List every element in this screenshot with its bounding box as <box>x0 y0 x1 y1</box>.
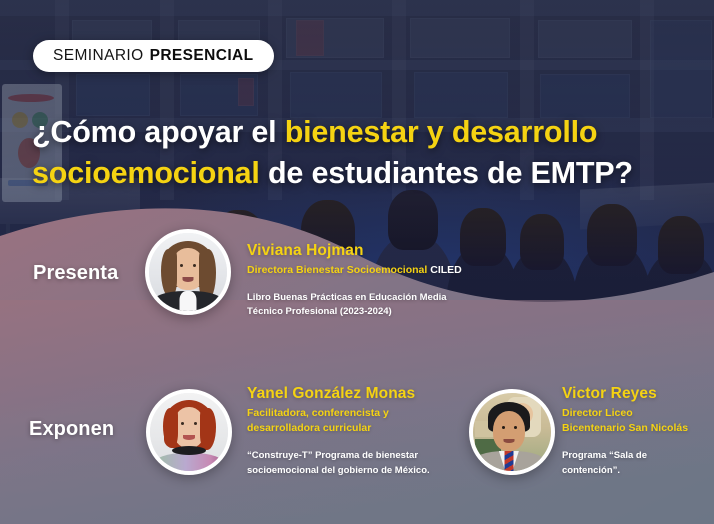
badge-word-bold: PRESENCIAL <box>150 47 254 65</box>
speaker-name: Yanel González Monas <box>247 385 447 403</box>
speaker-note: Libro Buenas Prácticas en Educación Medi… <box>247 291 462 320</box>
speaker-note: Programa “Sala de contención”. <box>562 449 662 478</box>
speaker-name: Victor Reyes <box>562 385 712 403</box>
speaker-role: Directora Bienestar Socioemocional CILED <box>247 263 497 278</box>
speaker-info-yanel: Yanel González Monas Facilitadora, confe… <box>247 385 447 478</box>
speaker-role-white: CILED <box>430 264 462 276</box>
role-label-presenta: Presenta <box>33 262 118 285</box>
portrait-yanel-gonzalez-monas <box>150 393 228 471</box>
avatar <box>469 389 555 475</box>
portrait-victor-reyes <box>473 393 551 471</box>
seminar-type-badge: SEMINARIO PRESENCIAL <box>33 40 274 72</box>
speaker-role: Director Liceo Bicentenario San Nicolás <box>562 406 692 436</box>
avatar <box>145 229 231 315</box>
title-part-1: ¿Cómo apoyar el <box>32 115 285 149</box>
speaker-note: “Construye-T” Programa de bienestar soci… <box>247 449 439 478</box>
speaker-info-victor: Victor Reyes Director Liceo Bicentenario… <box>562 385 712 478</box>
badge-word-light: SEMINARIO <box>53 47 144 65</box>
portrait-viviana-hojman <box>149 233 227 311</box>
role-label-exponen: Exponen <box>29 418 114 441</box>
speaker-name: Viviana Hojman <box>247 242 497 260</box>
page-title: ¿Cómo apoyar el bienestar y desarrollo s… <box>32 112 672 193</box>
title-highlight-2: socioemocional <box>32 156 260 190</box>
title-highlight-1: bienestar y desarrollo <box>285 115 598 149</box>
avatar <box>146 389 232 475</box>
speaker-info-viviana: Viviana Hojman Directora Bienestar Socio… <box>247 242 497 320</box>
seminar-poster: SEMINARIO PRESENCIAL ¿Cómo apoyar el bie… <box>0 0 714 524</box>
speaker-role-yellow: Directora Bienestar Socioemocional <box>247 264 427 276</box>
speaker-role: Facilitadora, conferencista y desarrolla… <box>247 406 407 436</box>
title-part-3: de estudiantes de EMTP? <box>260 156 633 190</box>
